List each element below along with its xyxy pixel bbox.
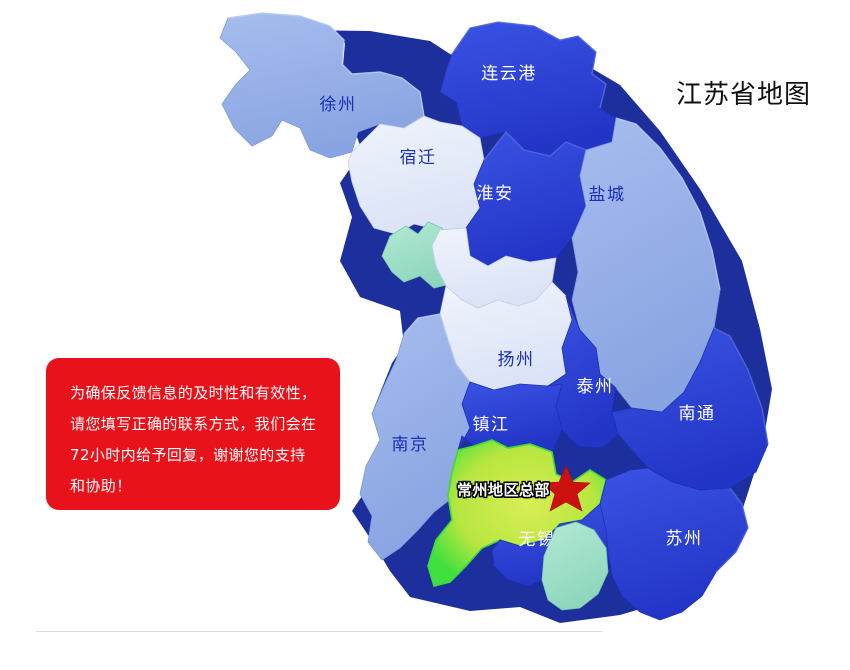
notice-text: 为确保反馈信息的及时性和有效性，请您填写正确的联系方式，我们会在72小时内给予回… — [70, 378, 318, 502]
region-zhenjiang[interactable]: 镇江 — [458, 382, 562, 452]
page-root: 徐州 连云港 宿迁 淮安 盐城 — [0, 0, 850, 670]
headquarters-label: 常州地区总部 — [457, 479, 550, 500]
notice-callout: 为确保反馈信息的及时性和有效性，请您填写正确的联系方式，我们会在72小时内给予回… — [46, 358, 340, 510]
bottom-divider — [36, 631, 602, 632]
page-title: 江苏省地图 — [676, 74, 811, 111]
